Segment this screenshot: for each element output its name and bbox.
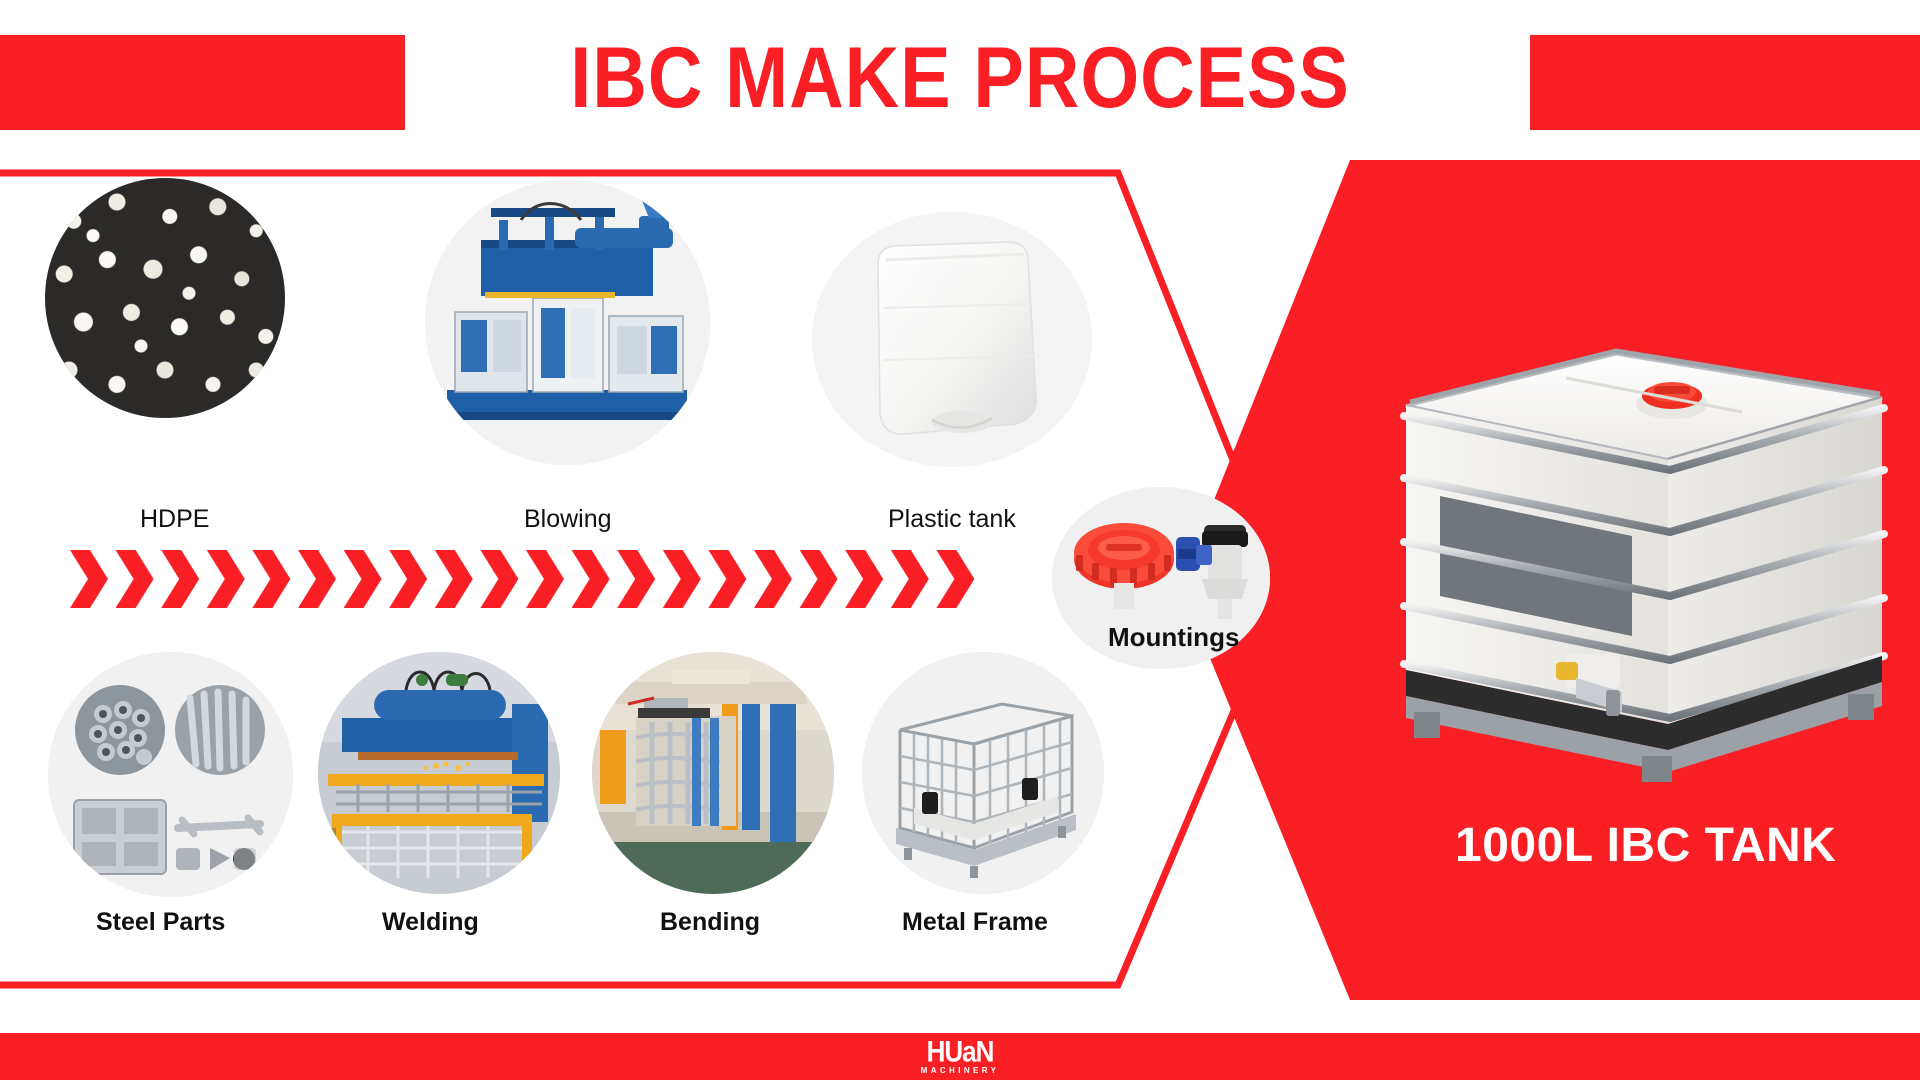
process-step-label-metal-frame: Metal Frame: [902, 908, 1048, 937]
process-step-label-hdpe: HDPE: [140, 505, 209, 534]
ibc-tank-icon: [1370, 320, 1910, 790]
result-label: 1000L IBC TANK: [1455, 818, 1915, 873]
process-step-label-blowing: Blowing: [524, 505, 612, 534]
process-step-label-plastic-tank: Plastic tank: [888, 505, 1016, 534]
footer-bar: HUaN MACHINERY: [0, 1033, 1920, 1080]
process-step-image-plastic-tank: [812, 212, 1092, 467]
metal-frame-icon: [862, 652, 1104, 894]
process-step-label-mountings: Mountings: [1108, 622, 1239, 653]
infographic-canvas: IBC MAKE PROCESS HDPE: [0, 0, 1920, 1080]
process-step-image-welding: [318, 652, 560, 894]
process-step-image-bending: [592, 652, 834, 894]
plastic-tank-icon: [812, 212, 1092, 467]
brand-logo-name: HUaN: [927, 1036, 994, 1066]
blow-molding-machine-icon: [425, 180, 710, 465]
process-step-image-hdpe: [45, 178, 285, 418]
welding-machine-icon: [318, 652, 560, 894]
brand-logo: HUaN MACHINERY: [921, 1038, 1000, 1075]
process-step-image-steel-parts: [48, 652, 293, 897]
process-step-image-metal-frame: [862, 652, 1104, 894]
process-step-image-blowing: [425, 180, 710, 465]
page-title: IBC MAKE PROCESS: [115, 18, 1805, 138]
hdpe-pellets-icon: [45, 178, 285, 418]
process-flow-arrow: [70, 550, 982, 608]
process-step-label-bending: Bending: [660, 908, 760, 937]
process-step-label-steel-parts: Steel Parts: [96, 908, 225, 937]
steel-parts-icon: [48, 652, 293, 897]
bending-machine-icon: [592, 652, 834, 894]
process-step-label-welding: Welding: [382, 908, 479, 937]
